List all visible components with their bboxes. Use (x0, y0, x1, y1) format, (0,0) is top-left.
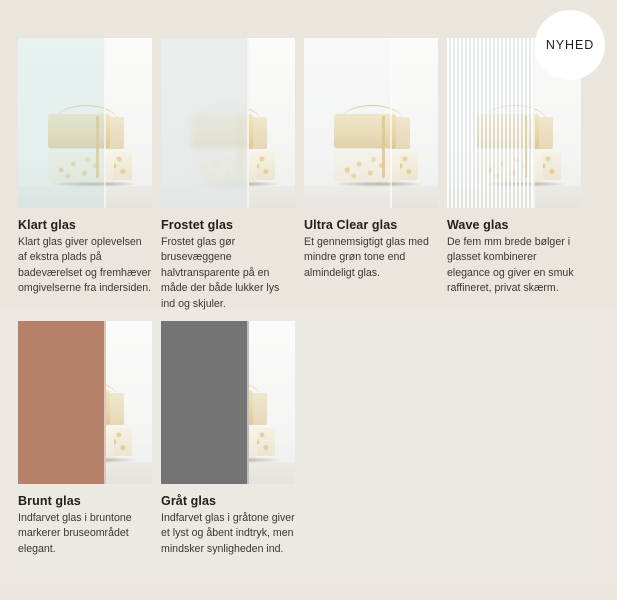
glass-options-grid: Klart glas Klart glas giver oplevelsen a… (0, 0, 617, 600)
glass-pane-brown (18, 321, 106, 484)
glass-title: Wave glas (447, 218, 581, 232)
glass-title: Gråt glas (161, 494, 295, 508)
glass-title: Klart glas (18, 218, 152, 232)
glass-caption-klart-glas: Klart glas Klart glas giver oplevelsen a… (18, 218, 152, 297)
glass-description: Indfarvet glas i gråtone giver et lyst o… (161, 511, 295, 557)
glass-thumbnail-brunt-glas[interactable] (18, 321, 152, 484)
glass-caption-frostet-glas: Frostet glas Frostet glas gør brusevægge… (161, 218, 295, 312)
glass-description: Indfarvet glas i bruntone markerer bruse… (18, 511, 152, 557)
glass-thumbnail-ultra-clear-glas[interactable] (304, 38, 438, 208)
glass-pane-edge (390, 38, 392, 208)
glass-description: De fem mm brede bølger i glasset kombine… (447, 235, 581, 297)
glass-caption-graat-glas: Gråt glas Indfarvet glas i gråtone giver… (161, 494, 295, 557)
glass-title: Brunt glas (18, 494, 152, 508)
glass-caption-brunt-glas: Brunt glas Indfarvet glas i bruntone mar… (18, 494, 152, 557)
glass-pane-grey (161, 321, 249, 484)
glass-pane-edge (247, 38, 249, 208)
glass-title: Frostet glas (161, 218, 295, 232)
glass-pane-edge (104, 38, 106, 208)
glass-thumbnail-frostet-glas[interactable] (161, 38, 295, 208)
glass-caption-wave-glas: Wave glas De fem mm brede bølger i glass… (447, 218, 581, 297)
glass-pane-edge (247, 321, 249, 484)
glass-pane-frosted (161, 38, 249, 208)
glass-caption-ultra-clear-glas: Ultra Clear glas Et gennemsigtigt glas m… (304, 218, 438, 281)
glass-description: Klart glas giver oplevelsen af ekstra pl… (18, 235, 152, 297)
nyhed-badge-label: NYHED (546, 38, 594, 52)
glass-title: Ultra Clear glas (304, 218, 438, 232)
glass-description: Et gennemsigtigt glas med mindre grøn to… (304, 235, 438, 281)
glass-thumbnail-klart-glas[interactable] (18, 38, 152, 208)
glass-pane-wave (447, 38, 535, 208)
nyhed-badge: NYHED (535, 10, 605, 80)
glass-description: Frostet glas gør brusevæggene halvtransp… (161, 235, 295, 312)
glass-pane-clear (18, 38, 106, 208)
glass-thumbnail-graat-glas[interactable] (161, 321, 295, 484)
glass-pane-ultra-clear (304, 38, 392, 208)
glass-pane-edge (533, 38, 535, 208)
glass-pane-edge (104, 321, 106, 484)
